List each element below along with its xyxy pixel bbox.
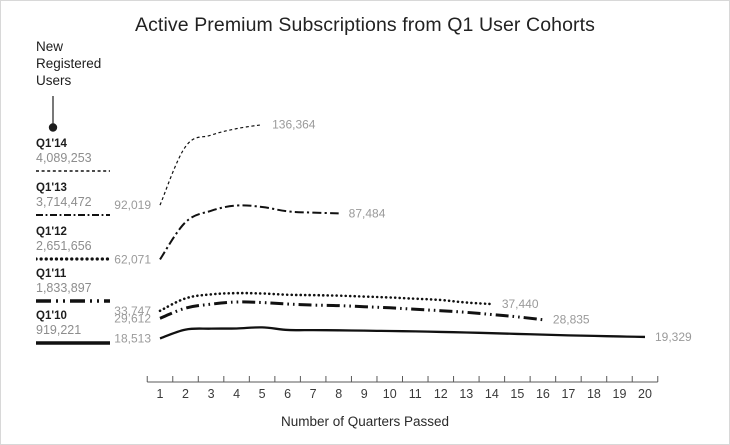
end-value-label: 28,835 [553, 313, 590, 327]
x-tick-label: 4 [233, 387, 240, 401]
start-value-label: 62,071 [114, 252, 151, 266]
x-tick-label: 15 [510, 387, 524, 401]
x-tick-label: 19 [613, 387, 627, 401]
end-value-label: 19,329 [655, 330, 692, 344]
series-line-Q112 [160, 293, 492, 311]
x-tick-label: 13 [459, 387, 473, 401]
chart-plot: 92,019136,36462,07187,48433,74737,44029,… [0, 0, 730, 445]
x-tick-label: 14 [485, 387, 499, 401]
x-axis-title: Number of Quarters Passed [0, 414, 730, 429]
x-tick-label: 2 [182, 387, 189, 401]
series-line-Q113 [160, 205, 339, 259]
start-value-label: 29,612 [114, 311, 151, 325]
start-value-label: 92,019 [114, 198, 151, 212]
x-tick-label: 11 [409, 387, 422, 401]
end-value-label: 136,364 [272, 118, 316, 132]
x-tick-label: 16 [536, 387, 550, 401]
x-tick-label: 1 [157, 387, 164, 401]
x-tick-label: 18 [587, 387, 601, 401]
x-tick-label: 8 [335, 387, 342, 401]
series-line-Q110 [160, 327, 645, 338]
value-label-layer: 92,019136,36462,07187,48433,74737,44029,… [114, 118, 692, 346]
x-tick-label: 5 [259, 387, 266, 401]
x-tick-label: 6 [284, 387, 291, 401]
series-layer [160, 125, 645, 339]
start-value-label: 18,513 [114, 331, 151, 345]
x-tick-label: 20 [638, 387, 652, 401]
x-tick-label: 7 [310, 387, 317, 401]
series-line-Q114 [160, 125, 262, 205]
x-tick-label: 12 [434, 387, 448, 401]
end-value-label: 37,440 [502, 297, 539, 311]
x-axis: 1234567891011121314151617181920 [147, 376, 658, 401]
x-tick-label: 9 [361, 387, 368, 401]
end-value-label: 87,484 [349, 206, 386, 220]
x-tick-label: 17 [561, 387, 575, 401]
x-tick-label: 3 [208, 387, 215, 401]
x-tick-label: 10 [383, 387, 397, 401]
